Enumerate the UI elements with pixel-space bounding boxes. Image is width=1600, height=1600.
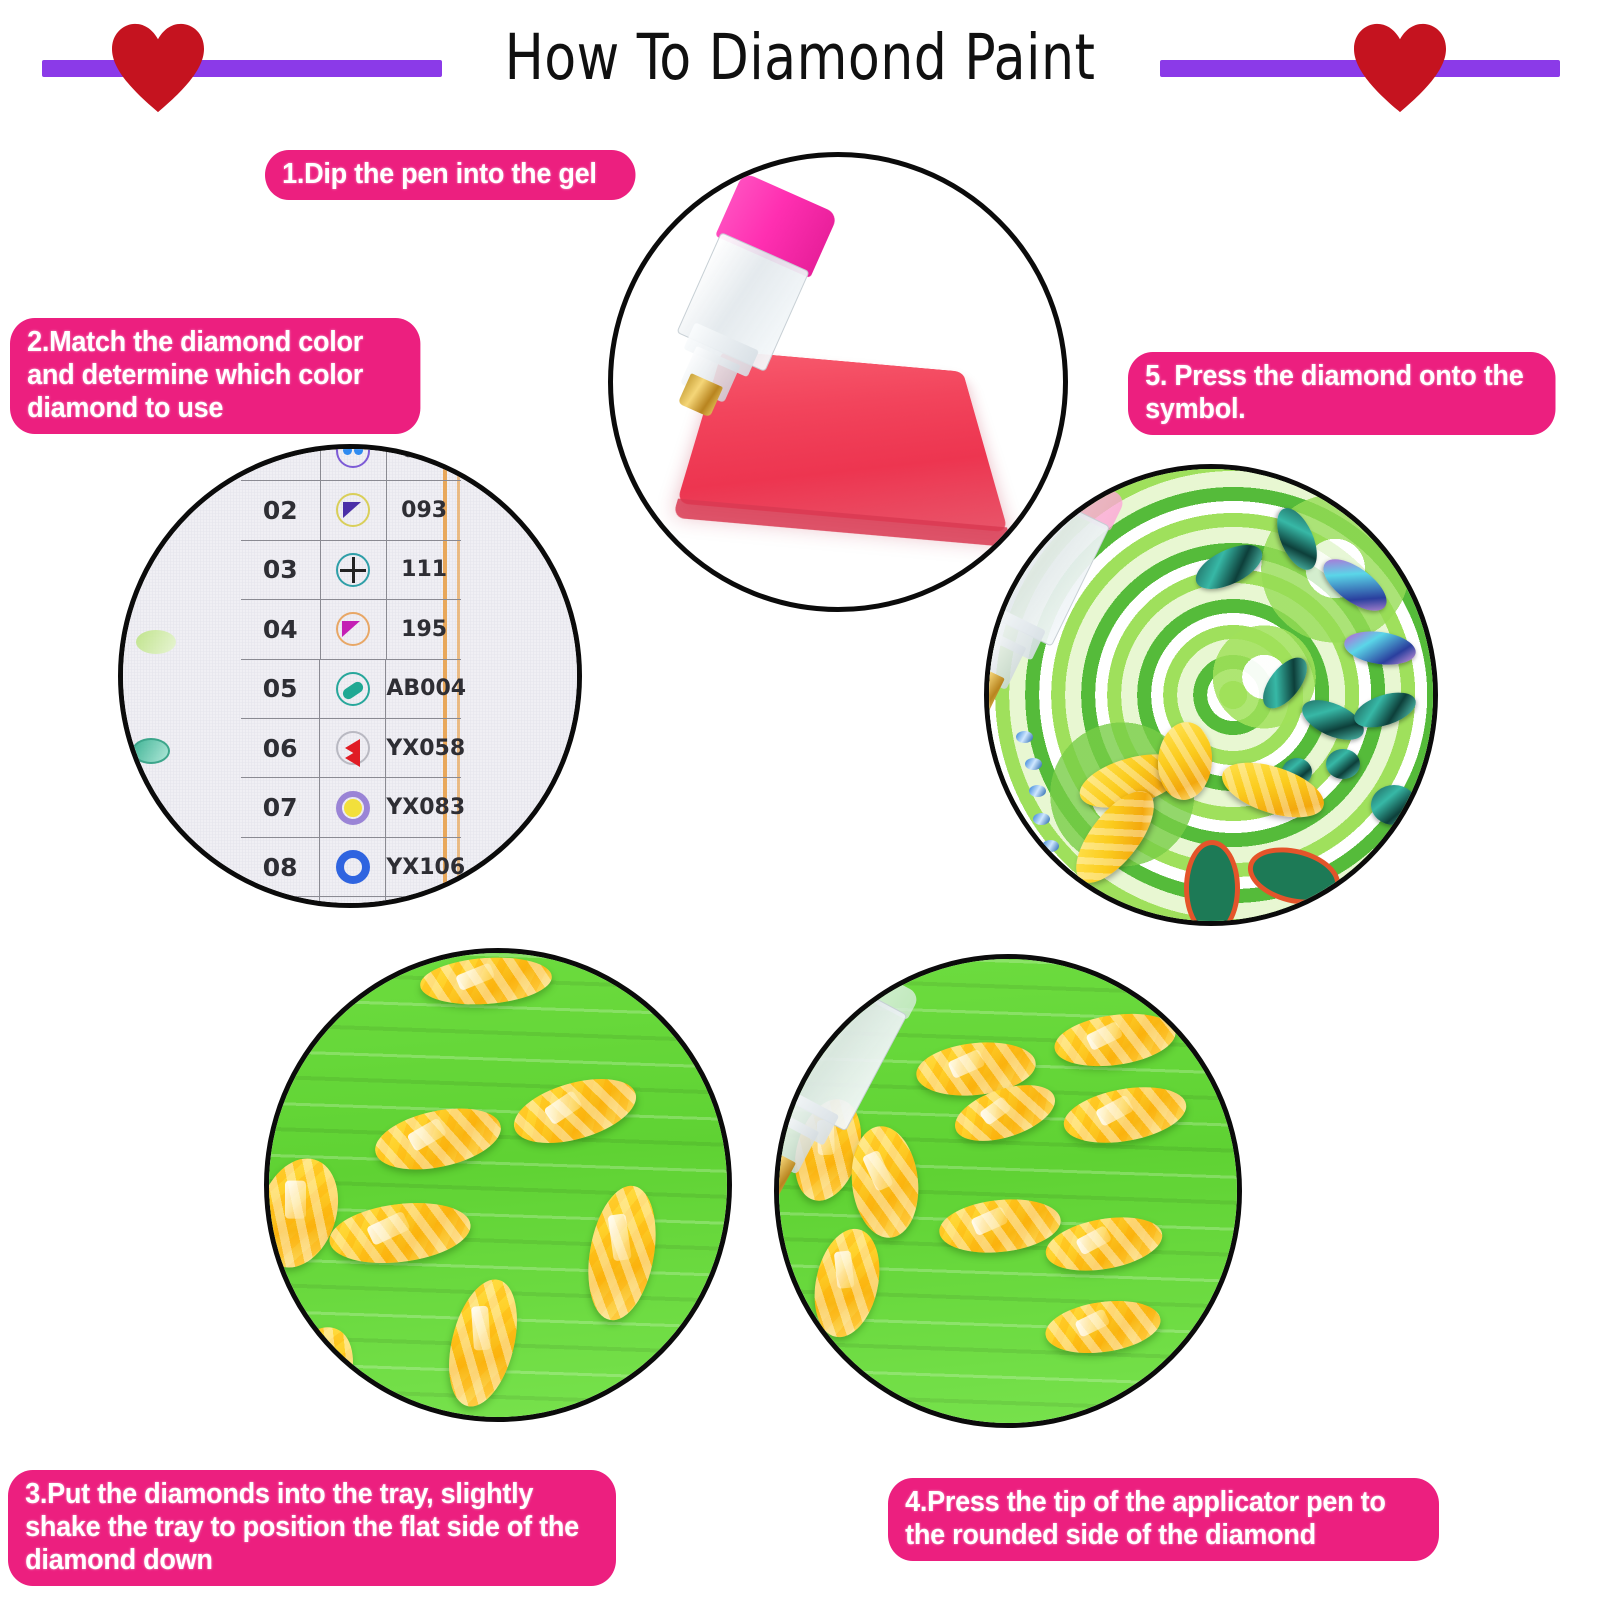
legend-row-number: 08 [241,838,320,896]
plus-circle-symbol [321,541,387,599]
step-4-label: 4.Press the tip of the applicator pen to… [888,1478,1439,1561]
gem-yellow [437,1272,529,1413]
gem-yellow [370,1098,507,1179]
legend-row-code: 111 [387,557,461,582]
double-dot-circle-symbol [321,444,387,480]
placing-diamond-on-canvas-photo [984,464,1438,926]
legend-row-code: YX058 [386,736,461,761]
legend-row-code: YX106 [386,855,461,880]
legend-table: 028 02 093 03 [241,444,461,908]
gem-yellow [419,953,554,1008]
table-row: 08 YX106 [241,838,461,897]
legend-row-number: 03 [241,541,321,599]
table-row: 05 AB004 [241,660,461,719]
legend-row-number: 06 [241,719,320,777]
legend-row-code: 195 [387,617,461,642]
legend-row-code: AB004 [386,676,461,701]
page-title: How To Diamond Paint [64,22,1536,94]
pen-picking-diamond-photo [774,954,1242,1428]
gem-yellow [264,1148,351,1278]
gem-yellow [1042,1295,1164,1361]
gem-yellow [805,1223,889,1343]
table-row: 07 YX083 [241,778,461,837]
table-row: 06 YX058 [241,719,461,778]
gem-iris [1342,627,1418,669]
legend-row-number: 09 [241,897,320,908]
yellow-dot-ring-symbol [320,778,386,836]
gem-yellow [264,1315,369,1422]
gem-teal [1269,503,1325,576]
magenta-triangle-symbol [321,600,387,658]
step-2-label: 2.Match the diamond color and determine … [10,318,420,434]
gem-yellow [326,1195,474,1270]
table-row: 03 111 [241,541,461,600]
purple-triangle-symbol [321,481,387,539]
diamonds-in-tray-photo [264,948,732,1422]
legend-row-code: 093 [387,498,461,523]
legend-row-code: 028 [387,444,461,463]
mandala-canvas [989,469,1433,921]
gem-teal [1189,536,1269,598]
infographic-canvas: How To Diamond Paint 1.Dip the pen into … [0,0,1600,1600]
step-5-label: 5. Press the diamond onto the symbol. [1128,352,1556,435]
legend-row-number: 07 [241,778,320,836]
canvas-artwork-edge [132,622,205,831]
gem-yellow-target [937,1194,1064,1258]
gem-iris [1315,550,1395,621]
gem-yellow [578,1180,665,1325]
gem-teal [1326,749,1360,779]
legend-row-number: 05 [241,660,320,718]
gem-yellow [506,1067,643,1156]
gem-yellow [1051,1006,1179,1072]
canvas-paper: 028 02 093 03 [123,449,577,903]
gem-teal [1371,785,1417,825]
gem-yellow [1215,752,1330,829]
legend-row-number: 02 [241,481,321,539]
table-row: 028 [241,444,461,481]
table-row: 09 YX125 [241,897,461,908]
legend-row-number: 04 [241,600,321,658]
green-diamond-tray [269,953,727,1417]
table-row: 02 093 [241,481,461,540]
blue-ring-symbol [320,838,386,896]
step-3-label: 3.Put the diamonds into the tray, slight… [8,1470,616,1586]
red-chevron-symbol [320,719,386,777]
gem-yellow [1059,1079,1190,1152]
applicator-pen [984,464,1127,709]
legend-row-code: YX083 [386,795,461,820]
step-1-label: 1.Dip the pen into the gel [265,150,636,200]
printed-red-petal [1184,840,1240,926]
printed-red-petal [1241,838,1345,913]
symbol-legend-chart-photo: 028 02 093 03 [118,444,582,908]
green-leaf-symbol [320,897,386,908]
legend-row-number [241,444,321,480]
teal-capsule-symbol [320,660,386,718]
green-diamond-tray [779,959,1237,1423]
table-row: 04 195 [241,600,461,659]
